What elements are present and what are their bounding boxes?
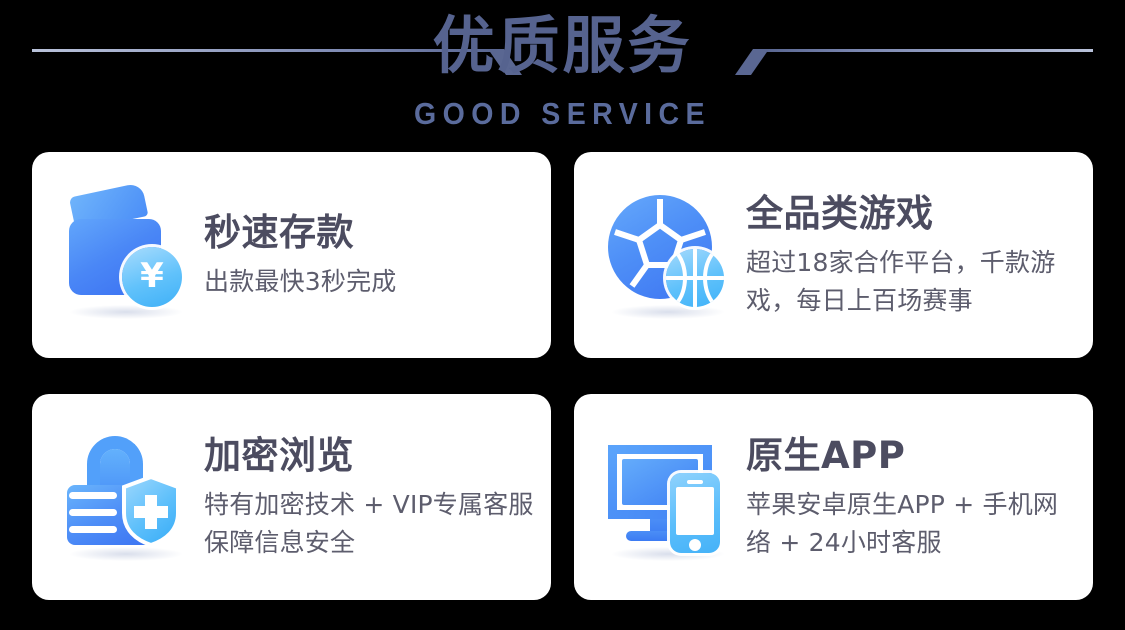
mobile-phone-icon — [670, 473, 720, 553]
page-title: 优质服务 — [0, 6, 1125, 86]
card-description: 出款最快3秒完成 — [204, 263, 541, 301]
monitor-phone-icon — [604, 431, 736, 563]
lock-shield-icon — [62, 431, 194, 563]
yen-coin-icon: ¥ — [122, 247, 182, 307]
lock-slot-icon — [69, 509, 117, 516]
shield-plus-shape — [120, 475, 182, 547]
feature-card-text: 全品类游戏 超过18家合作平台，千款游戏，每日上百场赛事 — [736, 190, 1093, 320]
card-title: 全品类游戏 — [746, 190, 1083, 238]
icon-shadow — [70, 305, 182, 319]
card-title: 原生APP — [746, 432, 1083, 480]
card-title: 加密浏览 — [204, 432, 541, 480]
basketball-icon — [666, 249, 724, 307]
card-description: 特有加密技术 + VIP专属客服保障信息安全 — [204, 486, 541, 562]
feature-card-instant-deposit[interactable]: ¥ 秒速存款 出款最快3秒完成 — [32, 152, 551, 358]
page-subtitle: GOOD SERVICE — [45, 96, 1080, 132]
soccer-basketball-icon — [604, 189, 736, 321]
phone-home-button — [689, 539, 701, 551]
icon-shadow — [612, 305, 724, 319]
feature-card-text: 秒速存款 出款最快3秒完成 — [194, 209, 551, 301]
lock-slot-icon — [69, 492, 117, 499]
feature-card-text: 加密浏览 特有加密技术 + VIP专属客服保障信息安全 — [194, 432, 551, 562]
lock-slot-icon — [69, 526, 117, 533]
basketball-lines — [666, 249, 724, 307]
wallet-yen-icon: ¥ — [62, 189, 194, 321]
card-description: 超过18家合作平台，千款游戏，每日上百场赛事 — [746, 244, 1083, 320]
phone-screen — [676, 487, 714, 535]
feature-card-grid: ¥ 秒速存款 出款最快3秒完成 — [32, 152, 1093, 600]
feature-card-native-app[interactable]: 原生APP 苹果安卓原生APP + 手机网络 + 24小时客服 — [574, 394, 1093, 600]
shield-plus-icon — [120, 475, 182, 547]
page-header: 优质服务 GOOD SERVICE — [0, 0, 1125, 148]
feature-card-text: 原生APP 苹果安卓原生APP + 手机网络 + 24小时客服 — [736, 432, 1093, 562]
feature-card-encrypted-browsing[interactable]: 加密浏览 特有加密技术 + VIP专属客服保障信息安全 — [32, 394, 551, 600]
card-title: 秒速存款 — [204, 209, 541, 257]
phone-speaker — [687, 480, 703, 484]
card-description: 苹果安卓原生APP + 手机网络 + 24小时客服 — [746, 486, 1083, 562]
icon-shadow — [70, 547, 182, 561]
feature-card-all-games[interactable]: 全品类游戏 超过18家合作平台，千款游戏，每日上百场赛事 — [574, 152, 1093, 358]
yen-symbol: ¥ — [140, 259, 164, 293]
